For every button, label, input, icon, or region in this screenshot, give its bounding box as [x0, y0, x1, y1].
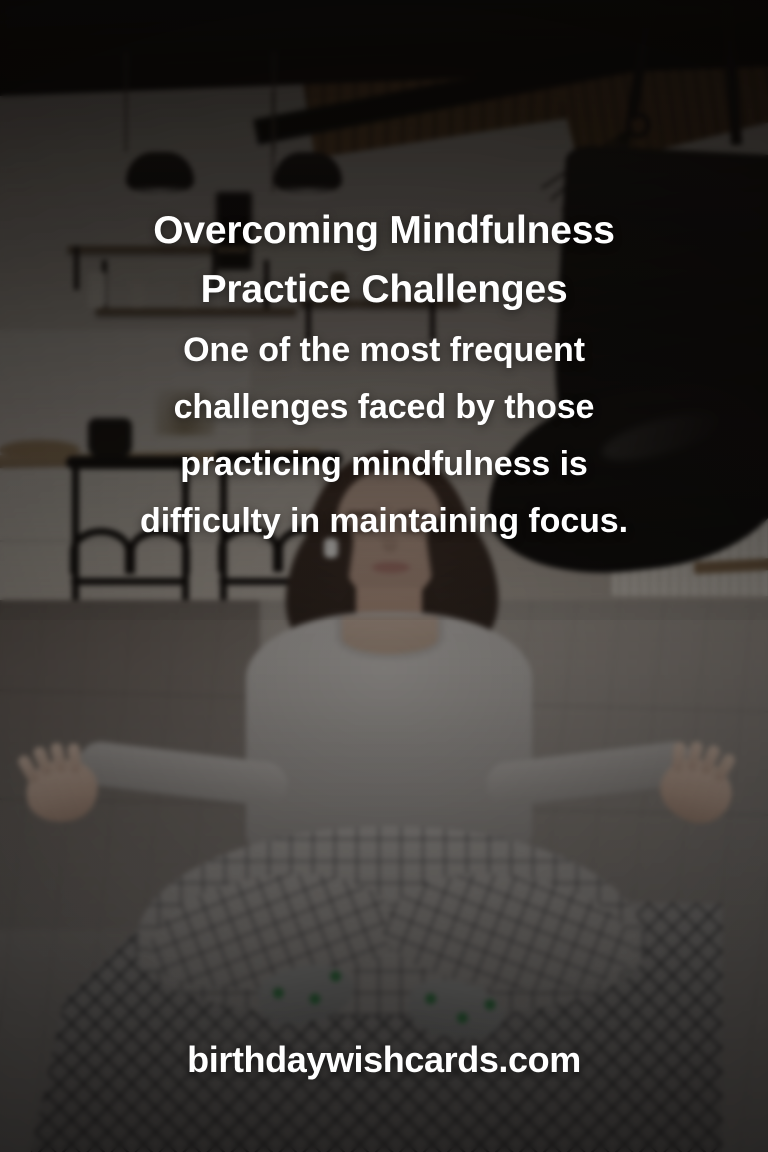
quote-card: Overcoming Mindfulness Practice Challeng…	[0, 0, 768, 1152]
site-watermark: birthdaywishcards.com	[0, 1038, 768, 1082]
subtitle-text: One of the most frequent challenges face…	[119, 322, 649, 550]
text-overlay: Overcoming Mindfulness Practice Challeng…	[0, 0, 768, 1152]
page-title: Overcoming Mindfulness Practice Challeng…	[74, 201, 694, 319]
